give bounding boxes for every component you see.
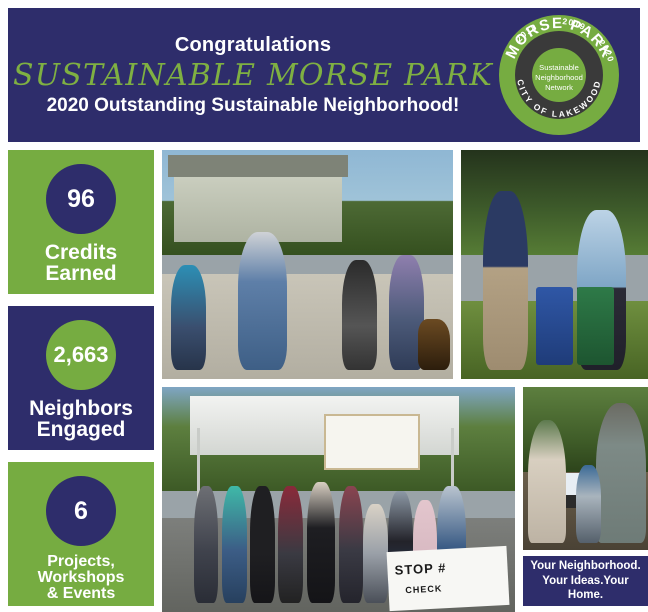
volunteer-figure-left <box>483 191 528 370</box>
youth-figure-5 <box>307 482 335 604</box>
congratulations-text: Congratulations <box>175 35 331 56</box>
stat-label-credits-line1: Credits <box>45 242 117 263</box>
stat-label-projects-line2: & Events <box>12 586 150 602</box>
stat-label-neighbors-line1: Neighbors <box>29 398 133 419</box>
youth-group-tent-photo: STOP # CHECK <box>162 387 515 612</box>
recycle-photo-scene <box>461 150 648 379</box>
protest-sign: STOP # CHECK <box>386 546 509 611</box>
tagline-line1: Your Neighborhood. <box>527 559 644 573</box>
stat-label-credits: Credits Earned <box>41 242 121 284</box>
stat-card-credits-earned: 96 Credits Earned <box>8 150 154 294</box>
sign-text-line1: STOP # <box>394 560 446 578</box>
stat-card-neighbors-engaged: 2,663 Neighbors Engaged <box>8 306 154 450</box>
stat-label-neighbors: Neighbors Engaged <box>25 398 137 440</box>
sign-text-line2: CHECK <box>405 583 442 595</box>
badge-inner-line-2: Neighborhood <box>535 73 583 82</box>
recycling-station-photo <box>461 150 648 379</box>
stat-label-credits-line2: Earned <box>45 263 117 284</box>
stat-value-neighbors: 2,663 <box>53 344 108 366</box>
tent-photo-scene: STOP # CHECK <box>162 387 515 612</box>
stat-bubble-credits: 96 <box>46 164 116 234</box>
youth-figure-1 <box>194 486 219 603</box>
stat-value-projects: 6 <box>74 499 88 524</box>
statistics-column: 96 Credits Earned 2,663 Neighbors Engage… <box>8 150 154 606</box>
page-title: SUSTAINABLE MORSE PARK <box>13 59 493 92</box>
workshop-photo-scene <box>523 387 648 550</box>
morse-park-badge-logo: 2018 2019 2020 MORSE PARK CITY OF LAKEWO… <box>496 12 622 138</box>
header-text-block: Congratulations SUSTAINABLE MORSE PARK 2… <box>8 8 498 142</box>
award-subtitle: 2020 Outstanding Sustainable Neighborhoo… <box>47 96 460 116</box>
tagline-text: Your Neighborhood. Your Ideas.Your Home. <box>527 559 644 602</box>
youth-figure-2 <box>222 486 247 603</box>
workshop-figure-back <box>576 465 601 543</box>
stat-value-credits: 96 <box>67 187 95 212</box>
walker-figure-3 <box>342 260 377 370</box>
recycling-bin-blue <box>536 287 573 365</box>
workshop-figure-foreground <box>596 403 646 543</box>
stat-label-projects-line1: Projects, Workshops <box>12 554 150 586</box>
youth-figure-4 <box>278 486 303 603</box>
tagline-box: Your Neighborhood. Your Ideas.Your Home. <box>523 556 648 606</box>
compost-bin-green <box>577 287 614 365</box>
header-banner: Congratulations SUSTAINABLE MORSE PARK 2… <box>8 8 640 142</box>
walker-figure-2 <box>171 265 206 370</box>
outdoor-workshop-photo <box>523 387 648 550</box>
youth-figure-6 <box>339 486 364 603</box>
badge-inner-line-1: Sustainable <box>539 63 579 72</box>
house-roof <box>168 155 348 178</box>
infographic-poster: Congratulations SUSTAINABLE MORSE PARK 2… <box>0 0 648 612</box>
fourh-club-banner <box>324 414 420 470</box>
tagline-line2: Your Ideas.Your Home. <box>527 574 644 603</box>
workshop-figure-left <box>528 420 566 544</box>
youth-figure-7 <box>363 504 388 603</box>
stat-bubble-projects: 6 <box>46 476 116 546</box>
youth-figure-3 <box>250 486 275 603</box>
neighborhood-walk-photo <box>162 150 453 379</box>
stat-label-projects: Projects, Workshops & Events <box>8 554 154 602</box>
walker-figure-1 <box>238 232 287 369</box>
stat-label-neighbors-line2: Engaged <box>29 419 133 440</box>
stat-card-projects-events: 6 Projects, Workshops & Events <box>8 462 154 606</box>
stat-bubble-neighbors: 2,663 <box>46 320 116 390</box>
dog-figure <box>418 319 450 369</box>
badge-inner-line-3: Network <box>545 83 573 92</box>
walk-photo-scene <box>162 150 453 379</box>
